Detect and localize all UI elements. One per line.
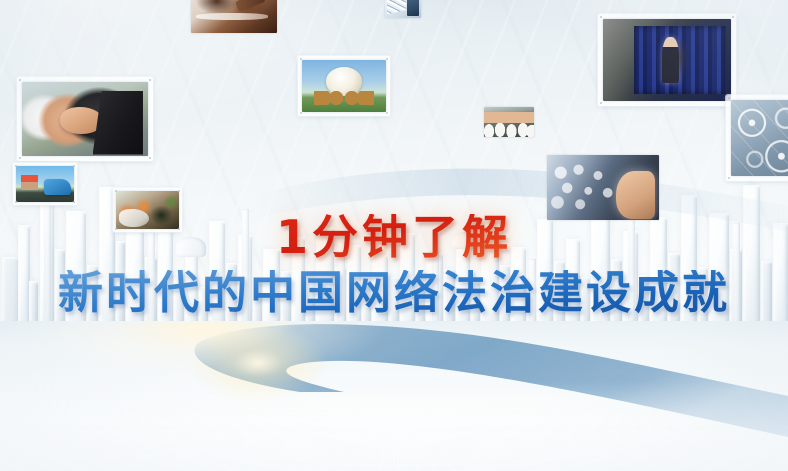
frame-screw-icon xyxy=(178,190,180,192)
gavel-justice-photo-image xyxy=(191,0,277,33)
documents-photo-artwork xyxy=(385,0,421,18)
documents-photo-image xyxy=(385,0,421,18)
glossy-floor xyxy=(0,321,788,471)
handshake-photo-image xyxy=(22,82,148,156)
frame-screw-icon xyxy=(732,16,734,18)
sports-team-photo-artwork xyxy=(484,107,534,137)
frame-screw-icon xyxy=(386,112,388,114)
frame-screw-icon xyxy=(600,16,602,18)
network-circuit-photo-image xyxy=(731,100,788,176)
documents-photo xyxy=(383,0,423,20)
frame-screw-icon xyxy=(19,157,21,159)
floor-perspective-grid xyxy=(0,450,788,471)
network-circuit-photo-artwork xyxy=(731,100,788,176)
frame-screw-icon xyxy=(300,58,302,60)
handshake-photo xyxy=(17,77,153,161)
title-card-scene: 1分钟了解 新时代的中国网络法治建设成就 xyxy=(0,0,788,471)
tv-broadcast-photo-artwork xyxy=(603,19,731,101)
gavel-justice-photo xyxy=(188,0,280,36)
frame-screw-icon xyxy=(600,102,602,104)
frame-screw-icon xyxy=(728,177,730,179)
digital-touchscreen-photo xyxy=(544,152,662,223)
frame-screw-icon xyxy=(115,190,117,192)
traffic-cartoon-photo-image xyxy=(16,166,74,202)
digital-touchscreen-photo-image xyxy=(547,155,659,220)
subheadline-text: 新时代的中国网络法治建设成就 xyxy=(0,270,788,315)
frame-screw-icon xyxy=(728,97,730,99)
gavel-justice-photo-artwork xyxy=(191,0,277,33)
sports-team-photo xyxy=(482,105,536,139)
digital-touchscreen-photo-artwork xyxy=(547,155,659,220)
frame-screw-icon xyxy=(15,165,17,167)
coins-finance-photo-artwork xyxy=(302,60,386,112)
headline-text: 1分钟了解 xyxy=(0,214,788,260)
frame-screw-icon xyxy=(149,79,151,81)
network-circuit-photo xyxy=(726,95,788,181)
frame-screw-icon xyxy=(19,79,21,81)
tv-broadcast-photo xyxy=(598,14,736,106)
traffic-cartoon-photo-artwork xyxy=(16,166,74,202)
floor-fine-lines xyxy=(0,426,788,471)
handshake-photo-artwork xyxy=(22,82,148,156)
frame-screw-icon xyxy=(15,201,17,203)
tv-broadcast-photo-image xyxy=(603,19,731,101)
frame-screw-icon xyxy=(300,112,302,114)
traffic-cartoon-photo xyxy=(13,163,77,205)
frame-screw-icon xyxy=(386,58,388,60)
coins-finance-photo-image xyxy=(302,60,386,112)
frame-screw-icon xyxy=(149,157,151,159)
frame-screw-icon xyxy=(73,165,75,167)
coins-finance-photo xyxy=(298,56,390,116)
frame-screw-icon xyxy=(73,201,75,203)
sports-team-photo-image xyxy=(484,107,534,137)
